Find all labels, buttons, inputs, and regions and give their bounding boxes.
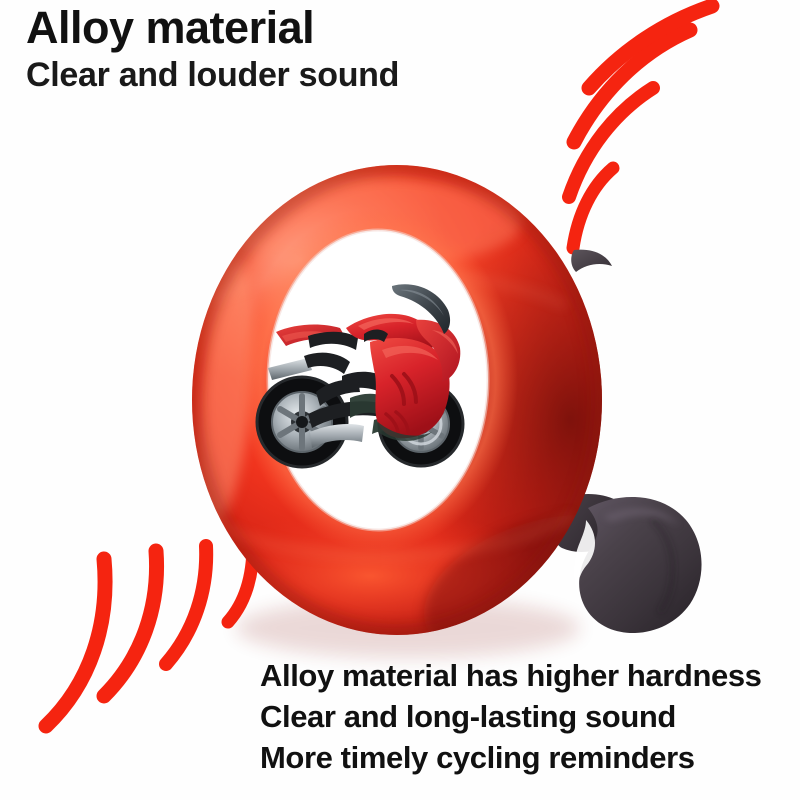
feature-line-3: More timely cycling reminders	[260, 737, 762, 778]
subheadline: Clear and louder sound	[26, 55, 399, 95]
bottom-text-block: Alloy material has higher hardness Clear…	[260, 655, 762, 779]
top-text-block: Alloy material Clear and louder sound	[26, 4, 399, 95]
headline: Alloy material	[26, 4, 399, 53]
product-image-canvas: Alloy material Clear and louder sound Al…	[0, 0, 800, 800]
motorcycle-handlebar	[268, 353, 350, 380]
feature-line-1: Alloy material has higher hardness	[260, 655, 762, 696]
bell-mount-nub	[571, 250, 612, 272]
motorcycle-decal	[246, 272, 470, 477]
feature-line-2: Clear and long-lasting sound	[260, 696, 762, 737]
sound-waves-bottom-left	[46, 545, 253, 726]
motorcycle-tail	[276, 325, 358, 350]
sound-waves-top-right	[569, 6, 712, 248]
